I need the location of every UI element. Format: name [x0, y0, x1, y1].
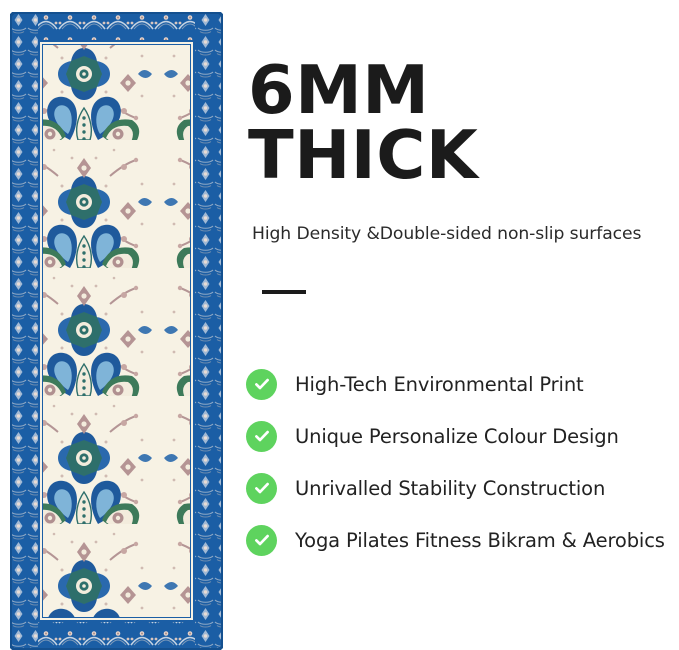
mat-bottom-band — [12, 622, 221, 648]
mat-pattern-field — [43, 45, 190, 617]
list-item: Unique Personalize Colour Design — [246, 410, 665, 462]
mat-right-band — [195, 14, 221, 648]
feature-label: Unique Personalize Colour Design — [295, 425, 619, 448]
feature-label: Yoga Pilates Fitness Bikram & Aerobics — [295, 529, 665, 552]
list-item: Yoga Pilates Fitness Bikram & Aerobics — [246, 514, 665, 566]
feature-label: High-Tech Environmental Print — [295, 373, 584, 396]
check-circle-icon — [246, 473, 277, 504]
mat-top-band — [12, 14, 221, 40]
check-circle-icon — [246, 525, 277, 556]
check-circle-icon — [246, 369, 277, 400]
check-circle-icon — [246, 421, 277, 452]
product-image-yoga-mat — [10, 12, 223, 650]
yoga-mat-illustration — [10, 12, 223, 650]
list-item: Unrivalled Stability Construction — [246, 462, 665, 514]
page-title: 6MM THICK — [248, 58, 478, 188]
mat-left-band — [12, 14, 38, 648]
feature-list: High-Tech Environmental Print Unique Per… — [246, 358, 665, 566]
subtitle-text: High Density &Double-sided non-slip surf… — [252, 224, 641, 244]
divider-rule — [262, 290, 306, 294]
list-item: High-Tech Environmental Print — [246, 358, 665, 410]
feature-label: Unrivalled Stability Construction — [295, 477, 605, 500]
marketing-info-panel: 6MM THICK High Density &Double-sided non… — [246, 0, 679, 650]
